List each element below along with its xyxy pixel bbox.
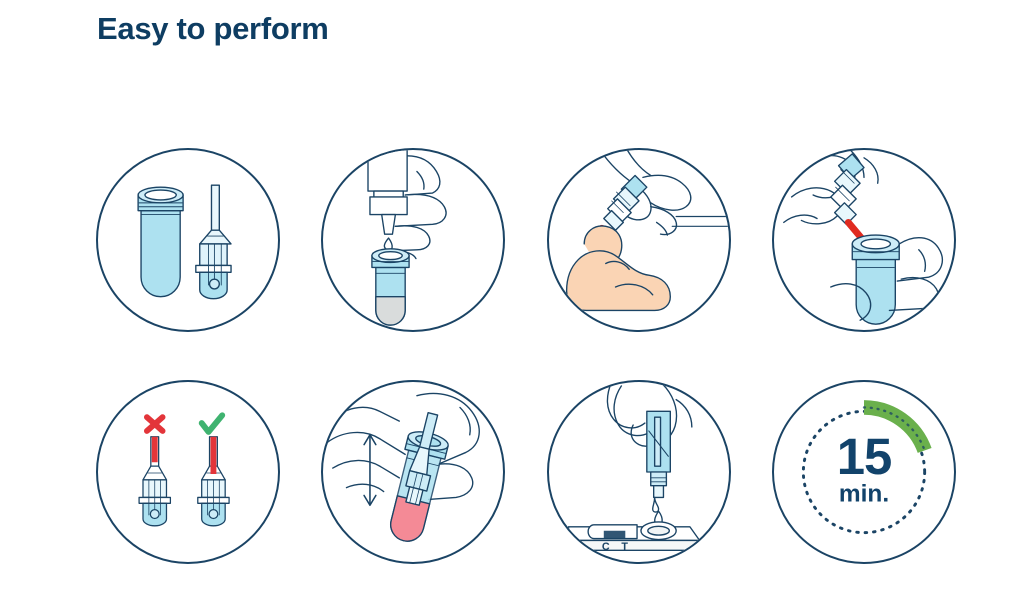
step-7-apply-to-cassette: C T [547,380,731,564]
step-3-collect-blood [547,148,731,332]
steps-row-2: C T 15 min. [96,380,956,564]
check-marker [202,415,223,432]
timer-value: 15 [837,428,892,485]
cassette-label-c: C [601,541,609,553]
step-8-wait-timer: 15 min. [772,380,956,564]
step-4-insert-capillary [772,148,956,332]
step-1-tube-and-collector [96,148,280,332]
steps-row-1 [96,148,956,332]
step-6-mix-sample [321,380,505,564]
cassette-label-t: T [621,541,628,553]
step-5-fill-level-check [96,380,280,564]
page-title: Easy to perform [97,11,329,47]
timer-unit: min. [839,480,889,507]
steps-grid: C T 15 min. [0,148,1024,564]
step-2-dispense-buffer [321,148,505,332]
cross-marker [147,417,163,431]
